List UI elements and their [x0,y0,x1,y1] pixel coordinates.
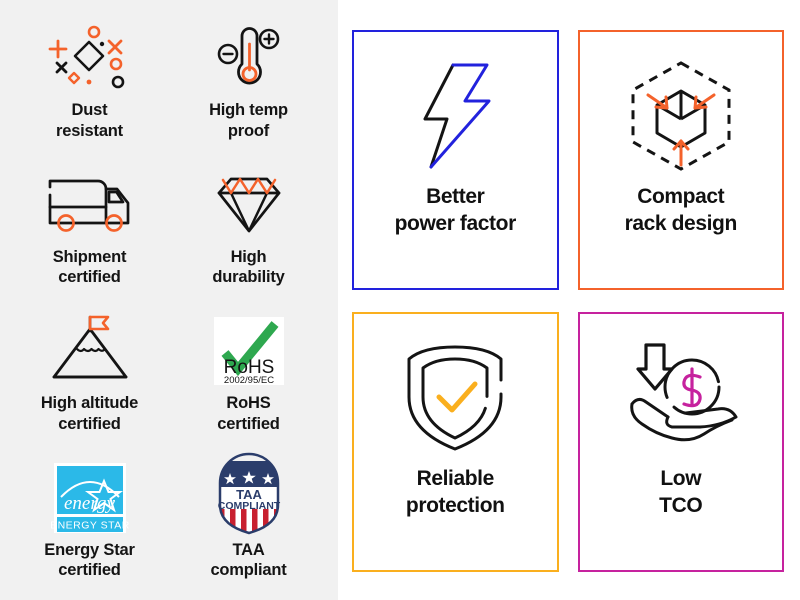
feature-label: Dust resistant [56,100,123,142]
feature-label: RoHS certified [217,393,279,435]
compact-cube-icon [623,58,739,174]
taa-compliant-badge-icon: TAA COMPLIANT [210,462,288,534]
feature-high-temp-proof: High temp proof [169,8,328,155]
dust-particles-icon [45,22,135,94]
diamond-icon [203,169,295,241]
taa-line2: COMPLIANT [217,500,280,512]
feature-label: Energy Star certified [44,540,134,582]
thermometer-icon [209,22,289,94]
feature-label: High durability [212,247,284,289]
feature-highlights-page: Dust resistant High temp proof [0,0,800,600]
card-label: Low TCO [659,466,702,520]
card-reliable-protection[interactable]: Reliable protection [352,312,559,572]
card-label: Reliable protection [406,466,505,520]
certifications-panel: Dust resistant High temp proof [0,0,338,600]
benefit-cards-panel: Better power factor [338,0,800,600]
feature-taa-compliant: TAA COMPLIANT TAA compliant [169,448,328,595]
shield-check-icon [399,340,511,456]
rohs-subtitle: 2002/95/EC [223,375,273,386]
card-label: Compact rack design [625,184,737,238]
rohs-badge-icon: RoHS 2002/95/EC [211,315,287,387]
energy-star-wordmark: ENERGY STAR [50,519,130,531]
feature-energy-star-certified: energy ENERGY STAR Energy Star certified [10,448,169,595]
feature-label: TAA compliant [210,540,286,582]
feature-high-durability: High durability [169,155,328,302]
lightning-bolt-icon [403,58,507,174]
card-label: Better power factor [395,184,516,238]
energy-script: energy [64,493,116,514]
feature-shipment-certified: Shipment certified [10,155,169,302]
energy-star-badge-icon: energy ENERGY STAR [50,462,130,534]
feature-rohs-certified: RoHS 2002/95/EC RoHS certified [169,301,328,448]
card-compact-rack-design[interactable]: Compact rack design [578,30,785,290]
feature-high-altitude-certified: High altitude certified [10,301,169,448]
card-low-tco[interactable]: Low TCO [578,312,785,572]
delivery-truck-icon [41,169,139,241]
feature-dust-resistant: Dust resistant [10,8,169,155]
feature-label: High altitude certified [41,393,138,435]
mountain-flag-icon [44,315,136,387]
feature-label: High temp proof [209,100,288,142]
hand-coin-down-icon [624,340,738,456]
card-better-power-factor[interactable]: Better power factor [352,30,559,290]
feature-label: Shipment certified [53,247,127,289]
